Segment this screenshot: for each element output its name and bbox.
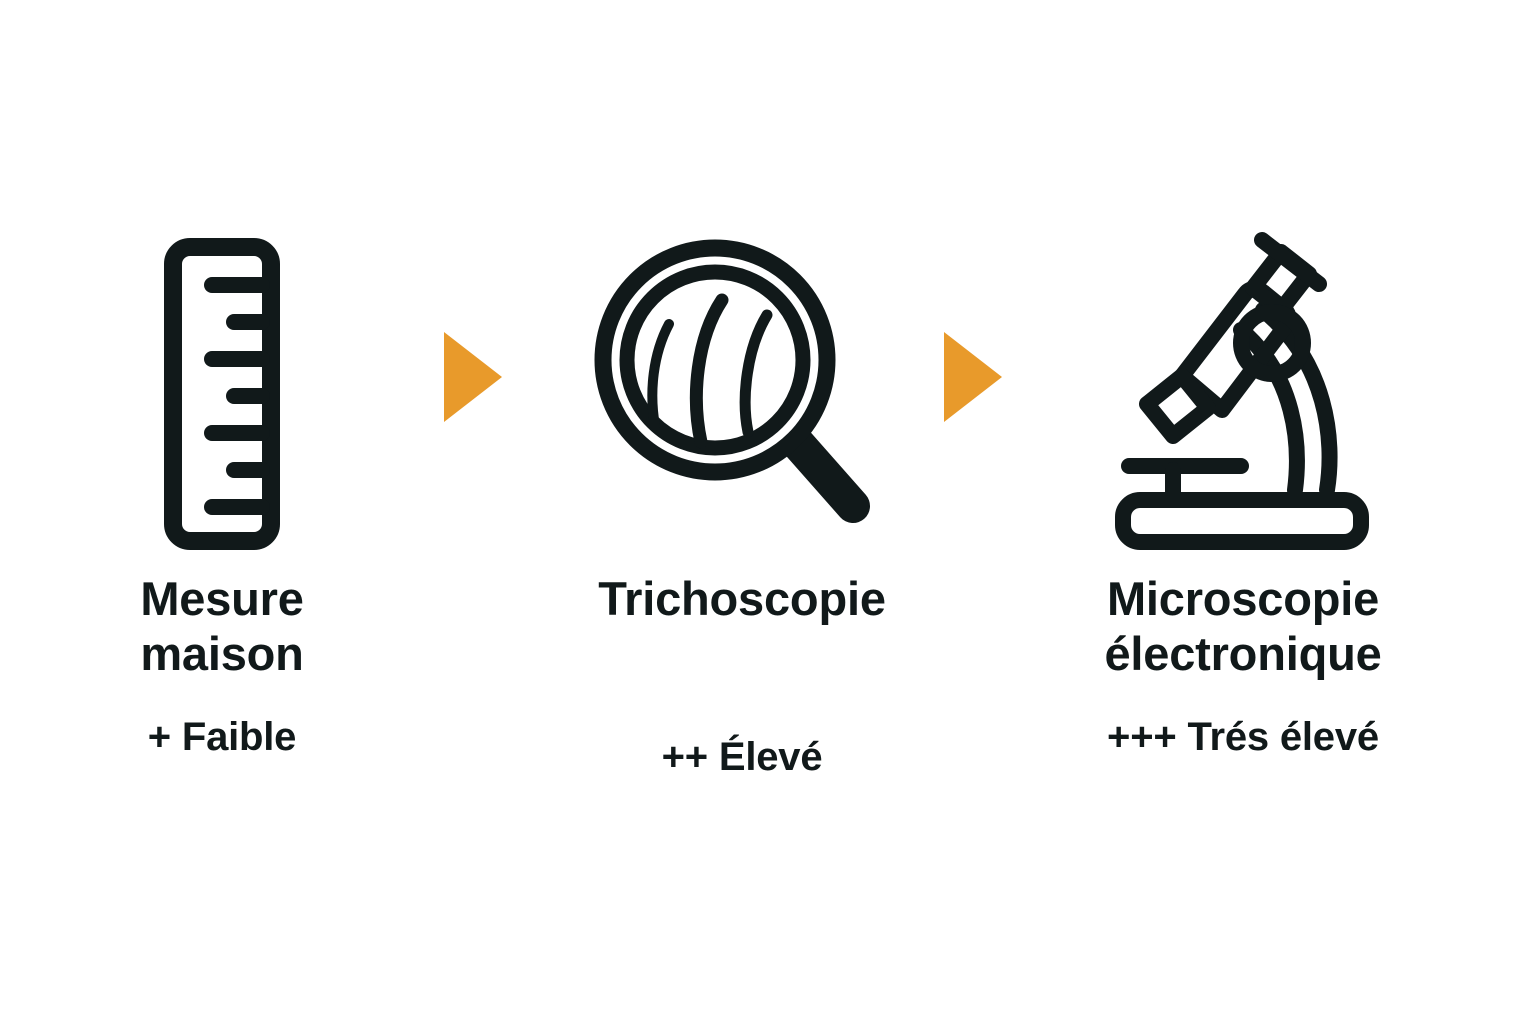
step-3-title: Microscopie électronique [1104,572,1381,681]
step-2-level: ++ Élevé [662,735,823,779]
step-2-title: Trichoscopie [598,572,886,627]
triangle-right-icon [444,332,502,422]
diagram-canvas: Mesure maison + Faible Trichoscopie ++ É… [0,0,1536,1024]
step-1-level: + Faible [148,715,296,759]
microscope-icon [1073,150,1413,550]
step-1-title: Mesure maison [140,572,303,681]
step-1: Mesure maison + Faible [12,150,432,759]
step-3: Microscopie électronique +++ Trés élevé [1033,150,1453,759]
triangle-right-icon [944,332,1002,422]
step-3-level: +++ Trés élevé [1107,715,1379,759]
magnifier-hair-icon [572,150,912,550]
ruler-icon [52,150,392,550]
step-2: Trichoscopie ++ Élevé [532,150,952,779]
